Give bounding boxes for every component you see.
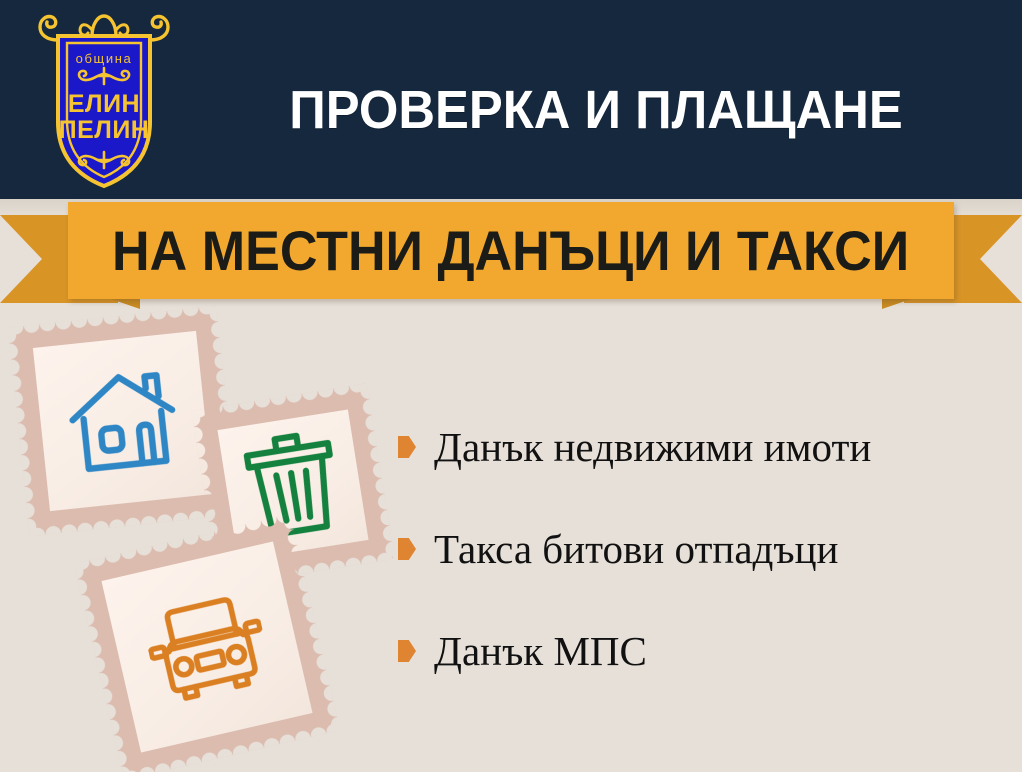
list-item[interactable]: Данък недвижими имоти	[398, 424, 1008, 470]
list-item[interactable]: Такса битови отпадъци	[398, 526, 1008, 572]
car-front-icon	[139, 585, 275, 709]
house-icon	[64, 364, 182, 479]
subtitle-ribbon: НА МЕСТНИ ДАНЪЦИ И ТАКСИ	[0, 196, 1022, 314]
svg-text:ПЕЛИН: ПЕЛИН	[59, 116, 150, 144]
list-item[interactable]: Данък МПС	[398, 628, 1008, 674]
list-item-label: Данък недвижими имоти	[434, 424, 871, 470]
bullet-arrow-icon	[398, 436, 416, 458]
stamp-paper	[101, 541, 312, 752]
svg-text:община: община	[76, 51, 133, 66]
ribbon-text: НА МЕСТНИ ДАНЪЦИ И ТАКСИ	[112, 222, 909, 280]
ribbon-banner: НА МЕСТНИ ДАНЪЦИ И ТАКСИ	[68, 202, 954, 299]
coat-of-arms-icon: община ЕЛИН ПЕЛИН	[36, 10, 172, 190]
stamp-paper	[33, 331, 213, 511]
service-list: Данък недвижими имоти Такса битови отпад…	[398, 424, 1008, 674]
page-title-line-1: ПРОВЕРКА И ПЛАЩАНЕ	[211, 80, 982, 140]
list-item-label: Такса битови отпадъци	[434, 526, 838, 572]
poster-canvas: община ЕЛИН ПЕЛИН ПРОВЕРКА И ПЛАЩ	[0, 0, 1022, 772]
bullet-arrow-icon	[398, 538, 416, 560]
svg-text:ЕЛИН: ЕЛИН	[68, 90, 140, 118]
list-item-label: Данък МПС	[434, 628, 647, 674]
bullet-arrow-icon	[398, 640, 416, 662]
